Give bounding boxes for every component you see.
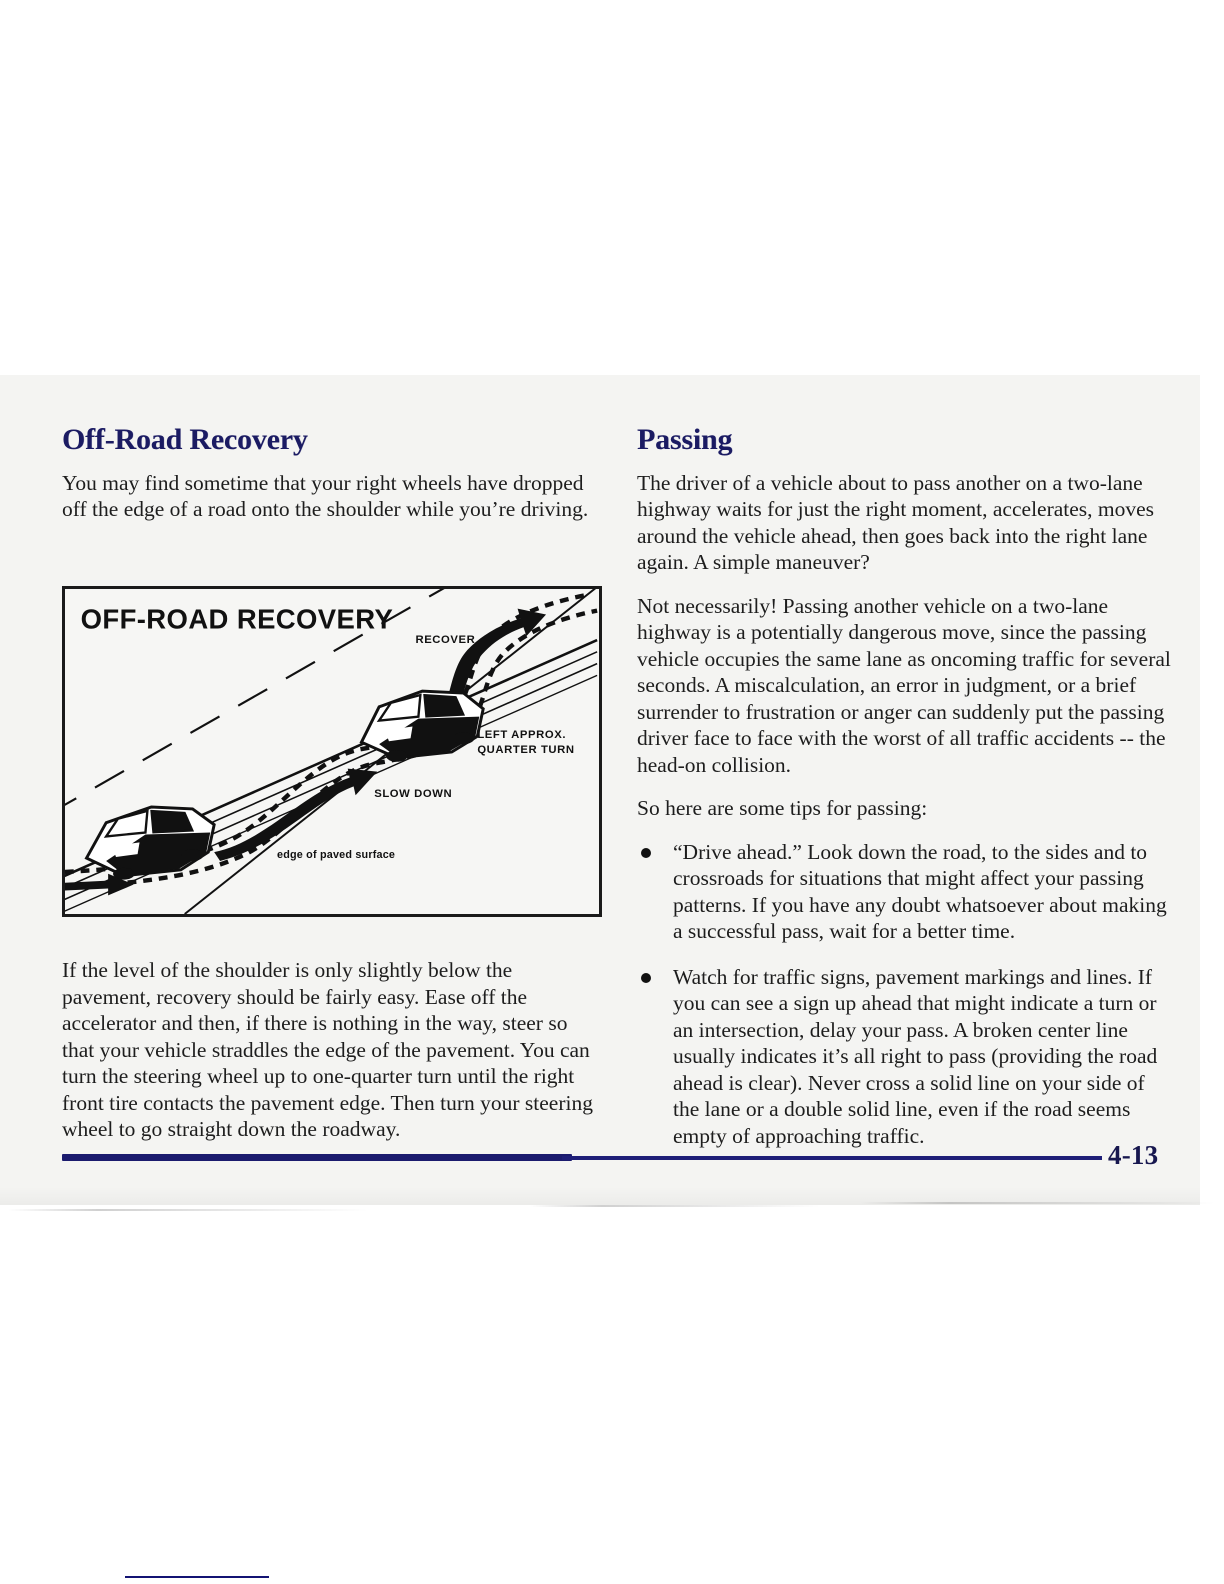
- off-road-recovery-figure: OFF-ROAD RECOVERY RECOVER LEFT APPROX. Q…: [62, 586, 602, 917]
- passing-paragraph-1: The driver of a vehicle about to pass an…: [637, 470, 1172, 576]
- page-title-off-road-recovery: Off-Road Recovery: [62, 424, 597, 456]
- figure-label-edge-of-paved-surface: edge of paved surface: [277, 849, 395, 861]
- figure-label-quarter-turn-line1: LEFT APPROX.: [477, 729, 566, 741]
- list-item: Watch for traffic signs, pavement markin…: [637, 964, 1172, 1150]
- footer-rule: [62, 1151, 1102, 1165]
- footer-rule-thin-segment: [562, 1156, 1102, 1160]
- scan-seam-artifact: [8, 1209, 368, 1211]
- page-title-passing: Passing: [637, 424, 1172, 456]
- page-number: 4-13: [1108, 1140, 1158, 1171]
- bottom-edge-rule-artifact: [125, 1576, 269, 1578]
- passing-paragraph-2: Not necessarily! Passing another vehicle…: [637, 593, 1172, 779]
- figure-label-quarter-turn-line2: QUARTER TURN: [477, 744, 574, 756]
- off-road-closing-paragraph: If the level of the shoulder is only sli…: [62, 957, 602, 1143]
- right-column: Passing The driver of a vehicle about to…: [637, 424, 1172, 1149]
- figure-label-recover: RECOVER: [415, 634, 475, 646]
- list-item-text: “Drive ahead.” Look down the road, to th…: [673, 840, 1167, 944]
- off-road-recovery-diagram: OFF-ROAD RECOVERY RECOVER LEFT APPROX. Q…: [65, 589, 599, 914]
- scan-seam-artifact: [530, 1205, 820, 1207]
- footer-rule-thick-segment: [62, 1154, 572, 1161]
- figure-title-text: OFF-ROAD RECOVERY: [81, 603, 394, 634]
- left-column: Off-Road Recovery You may find sometime …: [62, 424, 597, 523]
- passing-tips-list: “Drive ahead.” Look down the road, to th…: [637, 839, 1172, 1150]
- off-road-intro-paragraph: You may find sometime that your right wh…: [62, 470, 597, 523]
- bullet-icon: [641, 848, 651, 858]
- arrow-slow-down-curve: [214, 769, 377, 861]
- figure-label-slow-down: SLOW DOWN: [374, 788, 452, 800]
- bullet-icon: [641, 973, 651, 983]
- list-item: “Drive ahead.” Look down the road, to th…: [637, 839, 1172, 945]
- car-front-illustration: [361, 691, 483, 762]
- scan-seam-artifact: [860, 1202, 1215, 1204]
- list-item-text: Watch for traffic signs, pavement markin…: [673, 965, 1157, 1148]
- passing-tips-lead-in: So here are some tips for passing:: [637, 795, 1172, 822]
- left-column-lower: If the level of the shoulder is only sli…: [62, 957, 602, 1143]
